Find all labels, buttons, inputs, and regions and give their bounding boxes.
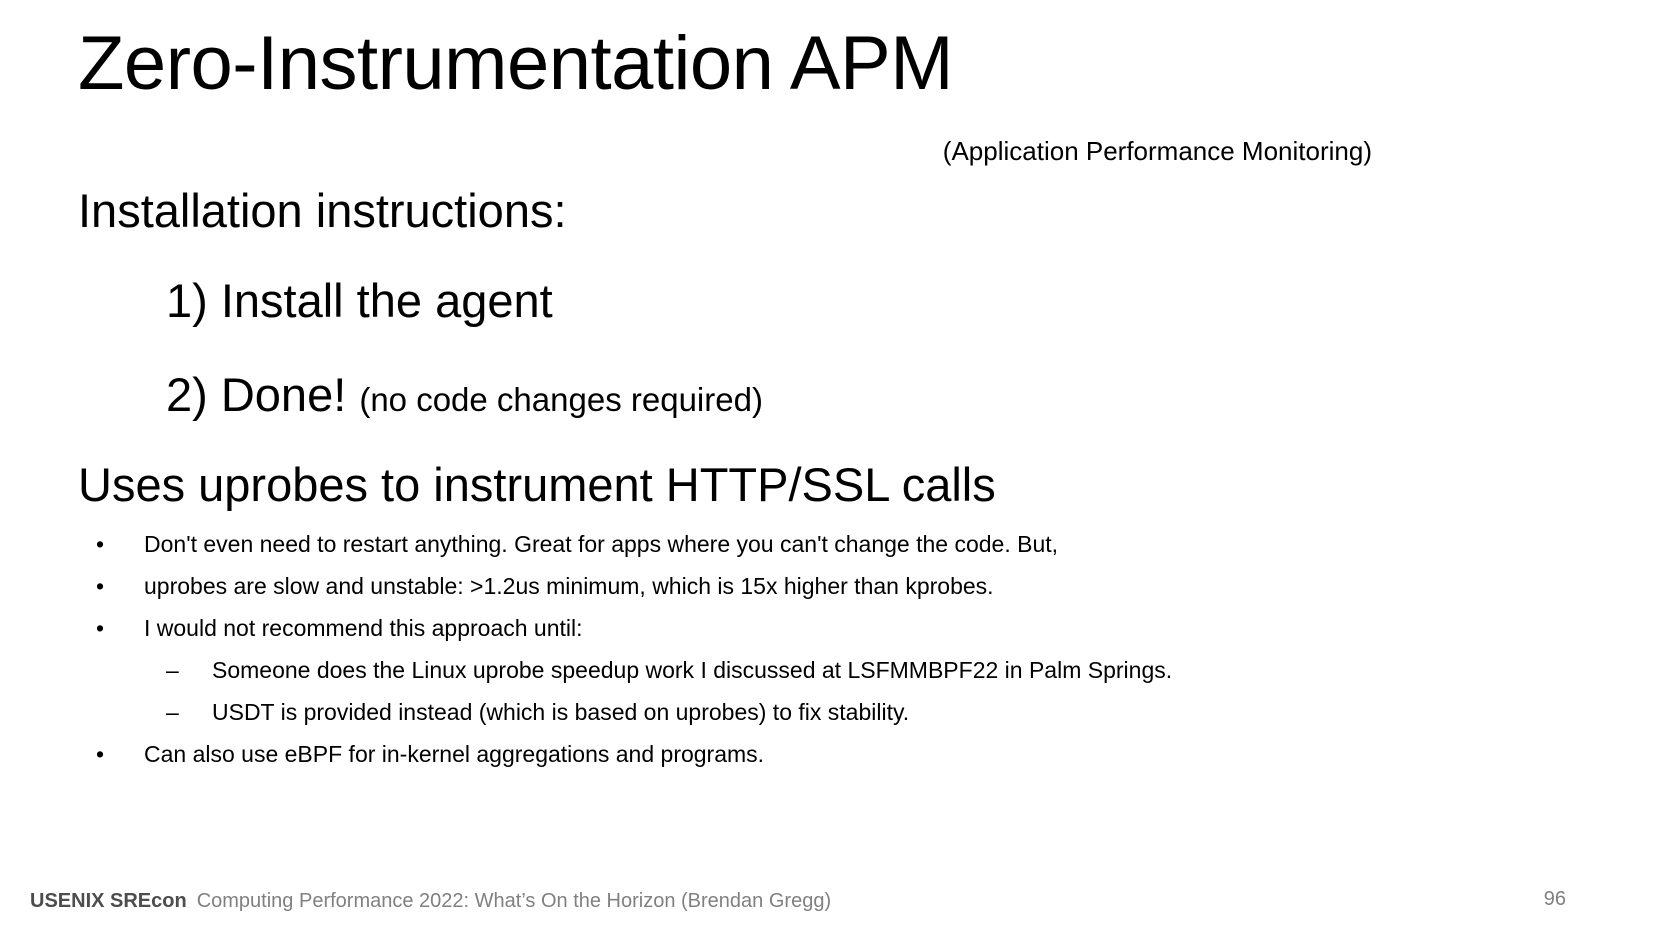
slide-footer: USENIX SREcon Computing Performance 2022…: [30, 890, 831, 913]
install-step-1-label: 1) Install the agent: [166, 274, 553, 327]
list-item-text: Can also use eBPF for in-kernel aggregat…: [144, 742, 1570, 766]
sub-list-item: – USDT is provided instead (which is bas…: [90, 700, 1570, 742]
list-item-text: Don't even need to restart anything. Gre…: [144, 532, 1570, 556]
footer-conference-brand: USENIX SREcon: [30, 890, 187, 913]
uprobes-section-heading: Uses uprobes to instrument HTTP/SSL call…: [78, 458, 996, 512]
install-step-1: 1) Install the agent: [166, 274, 553, 328]
list-item: • Can also use eBPF for in-kernel aggreg…: [90, 742, 1570, 784]
install-step-2-label: 2) Done!: [166, 368, 346, 421]
bullet-dash-icon: –: [160, 658, 212, 682]
list-item-text: I would not recommend this approach unti…: [144, 616, 1570, 640]
sub-list-item: – Someone does the Linux uprobe speedup …: [90, 658, 1570, 700]
page-number: 96: [1544, 888, 1566, 911]
list-item: • I would not recommend this approach un…: [90, 616, 1570, 658]
slide: Zero-Instrumentation APM (Application Pe…: [0, 0, 1654, 931]
install-step-2-note: (no code changes required): [359, 381, 763, 418]
bullet-dot-icon: •: [90, 532, 144, 556]
install-step-2: 2) Done! (no code changes required): [166, 368, 763, 422]
sub-list-item-text: USDT is provided instead (which is based…: [212, 700, 1570, 724]
installation-heading: Installation instructions:: [78, 184, 567, 238]
bullet-dot-icon: •: [90, 742, 144, 766]
list-item-text: uprobes are slow and unstable: >1.2us mi…: [144, 574, 1570, 598]
bullet-dot-icon: •: [90, 574, 144, 598]
bullet-list: • Don't even need to restart anything. G…: [90, 532, 1570, 784]
sub-list-item-text: Someone does the Linux uprobe speedup wo…: [212, 658, 1570, 682]
bullet-dash-icon: –: [160, 700, 212, 724]
bullet-dot-icon: •: [90, 616, 144, 640]
list-item: • Don't even need to restart anything. G…: [90, 532, 1570, 574]
list-item: • uprobes are slow and unstable: >1.2us …: [90, 574, 1570, 616]
page-title: Zero-Instrumentation APM: [78, 26, 953, 102]
title-expansion-note: (Application Performance Monitoring): [943, 137, 1372, 166]
footer-talk-title: Computing Performance 2022: What’s On th…: [197, 890, 831, 913]
